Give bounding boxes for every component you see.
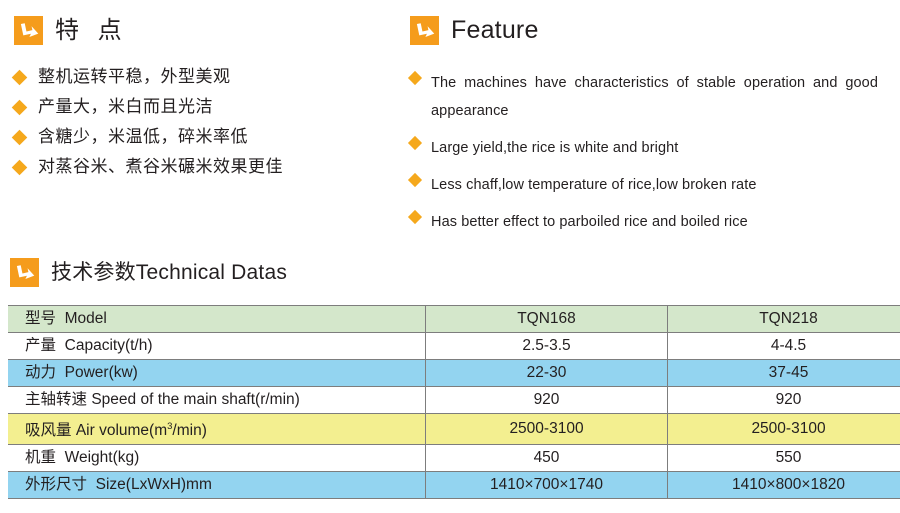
feature-en-list: The machines have characteristics of sta… bbox=[410, 69, 890, 236]
arrow-down-right-icon bbox=[10, 258, 39, 287]
list-item-label: 对蒸谷米、煮谷米碾米效果更佳 bbox=[38, 157, 283, 177]
tech-datas-title: 技术参数Technical Datas bbox=[51, 262, 287, 283]
row-label-en: Power(kw) bbox=[65, 364, 138, 381]
feature-cn-heading: 特 点 bbox=[14, 16, 414, 45]
cell-value: 550 bbox=[668, 445, 900, 472]
feature-en-title: Feature bbox=[451, 18, 539, 43]
row-label: 产量 Capacity(t/h) bbox=[8, 333, 426, 360]
feature-cn-title: 特 点 bbox=[55, 19, 128, 43]
row-label: 动力 Power(kw) bbox=[8, 360, 426, 387]
cell-value: 22-30 bbox=[426, 360, 668, 387]
diamond-bullet-icon bbox=[12, 70, 28, 86]
diamond-bullet-icon bbox=[408, 210, 422, 224]
table-row: 外形尺寸 Size(LxWxH)mm 1410×700×1740 1410×80… bbox=[8, 472, 900, 499]
cell-value: 1410×800×1820 bbox=[668, 472, 900, 499]
row-label: 机重 Weight(kg) bbox=[8, 445, 426, 472]
row-label: 型号 Model bbox=[8, 306, 426, 333]
row-label-cn: 机重 bbox=[25, 449, 56, 466]
list-item-label: 含糖少，米温低，碎米率低 bbox=[38, 127, 248, 147]
cell-value: 1410×700×1740 bbox=[426, 472, 668, 499]
list-item: Has better effect to parboiled rice and … bbox=[410, 208, 890, 236]
row-label-en: Weight(kg) bbox=[65, 449, 140, 466]
cell-value: 920 bbox=[668, 387, 900, 414]
cell-value: 2500-3100 bbox=[668, 414, 900, 445]
table-row: 动力 Power(kw) 22-30 37-45 bbox=[8, 360, 900, 387]
diamond-bullet-icon bbox=[408, 173, 422, 187]
tech-datas-heading: 技术参数Technical Datas bbox=[10, 258, 287, 287]
list-item-label: The machines have characteristics of sta… bbox=[431, 69, 878, 125]
feature-cn-list: 整机运转平稳，外型美观 产量大，米白而且光洁 含糖少，米温低，碎米率低 对蒸谷米… bbox=[14, 67, 414, 177]
list-item-label: 产量大，米白而且光洁 bbox=[38, 97, 213, 117]
row-label: 吸风量 Air volume(m3/min) bbox=[8, 414, 426, 445]
table-row: 吸风量 Air volume(m3/min) 2500-3100 2500-31… bbox=[8, 414, 900, 445]
feature-section-en: Feature The machines have characteristic… bbox=[410, 16, 890, 245]
list-item: 产量大，米白而且光洁 bbox=[14, 97, 414, 117]
cell-value: 920 bbox=[426, 387, 668, 414]
feature-en-heading: Feature bbox=[410, 16, 890, 45]
row-label-cn: 产量 bbox=[25, 337, 56, 354]
table-row: 型号 Model TQN168 TQN218 bbox=[8, 306, 900, 333]
row-label-cn: 型号 bbox=[25, 310, 56, 327]
cell-value: 37-45 bbox=[668, 360, 900, 387]
row-label-en: Speed of the main shaft(r/min) bbox=[91, 391, 300, 408]
list-item: Less chaff,low temperature of rice,low b… bbox=[410, 171, 890, 199]
row-label-en: Capacity(t/h) bbox=[65, 337, 153, 354]
specifications-table: 型号 Model TQN168 TQN218 产量 Capacity(t/h) … bbox=[8, 305, 900, 499]
row-label-cn: 吸风量 bbox=[25, 422, 72, 439]
arrow-down-right-icon bbox=[14, 16, 43, 45]
diamond-bullet-icon bbox=[12, 100, 28, 116]
row-label-en-post: /min) bbox=[172, 422, 206, 439]
cell-value: 2.5-3.5 bbox=[426, 333, 668, 360]
table-row: 产量 Capacity(t/h) 2.5-3.5 4-4.5 bbox=[8, 333, 900, 360]
arrow-down-right-icon bbox=[410, 16, 439, 45]
table-row: 机重 Weight(kg) 450 550 bbox=[8, 445, 900, 472]
list-item: 对蒸谷米、煮谷米碾米效果更佳 bbox=[14, 157, 414, 177]
diamond-bullet-icon bbox=[12, 130, 28, 146]
diamond-bullet-icon bbox=[408, 71, 422, 85]
diamond-bullet-icon bbox=[12, 160, 28, 176]
cell-value: 4-4.5 bbox=[668, 333, 900, 360]
list-item: Large yield,the rice is white and bright bbox=[410, 134, 890, 162]
feature-section-cn: 特 点 整机运转平稳，外型美观 产量大，米白而且光洁 含糖少，米温低，碎米率低 … bbox=[14, 16, 414, 187]
row-label-en: Size(LxWxH)mm bbox=[96, 476, 212, 493]
list-item-label: Less chaff,low temperature of rice,low b… bbox=[431, 171, 757, 199]
diamond-bullet-icon bbox=[408, 136, 422, 150]
list-item-label: 整机运转平稳，外型美观 bbox=[38, 67, 231, 87]
table-row: 主轴转速 Speed of the main shaft(r/min) 920 … bbox=[8, 387, 900, 414]
cell-value: 2500-3100 bbox=[426, 414, 668, 445]
cell-value: TQN168 bbox=[426, 306, 668, 333]
row-label: 主轴转速 Speed of the main shaft(r/min) bbox=[8, 387, 426, 414]
list-item: 含糖少，米温低，碎米率低 bbox=[14, 127, 414, 147]
row-label-cn: 主轴转速 bbox=[25, 391, 87, 408]
row-label-en: Model bbox=[65, 310, 107, 327]
list-item-label: Has better effect to parboiled rice and … bbox=[431, 208, 748, 236]
list-item: 整机运转平稳，外型美观 bbox=[14, 67, 414, 87]
row-label-cn: 动力 bbox=[25, 364, 56, 381]
row-label-en-pre: Air volume(m bbox=[76, 422, 167, 439]
cell-value: TQN218 bbox=[668, 306, 900, 333]
row-label: 外形尺寸 Size(LxWxH)mm bbox=[8, 472, 426, 499]
row-label-cn: 外形尺寸 bbox=[25, 476, 87, 493]
list-item: The machines have characteristics of sta… bbox=[410, 69, 890, 125]
list-item-label: Large yield,the rice is white and bright bbox=[431, 134, 678, 162]
cell-value: 450 bbox=[426, 445, 668, 472]
